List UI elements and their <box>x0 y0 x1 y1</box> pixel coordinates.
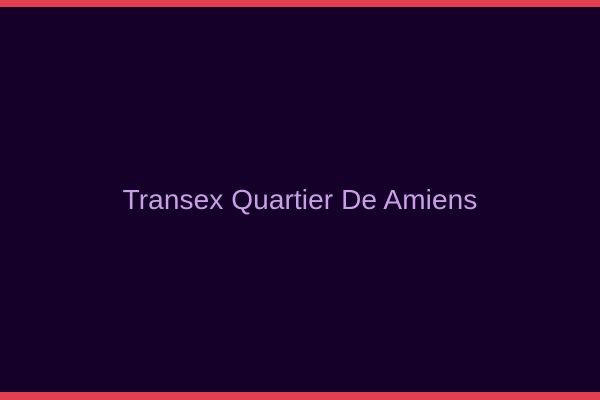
top-accent-bar <box>0 0 600 7</box>
placeholder-canvas: Transex Quartier De Amiens <box>0 0 600 400</box>
caption-container: Transex Quartier De Amiens <box>0 0 600 400</box>
bottom-accent-bar <box>0 392 600 400</box>
page-title: Transex Quartier De Amiens <box>111 185 490 216</box>
